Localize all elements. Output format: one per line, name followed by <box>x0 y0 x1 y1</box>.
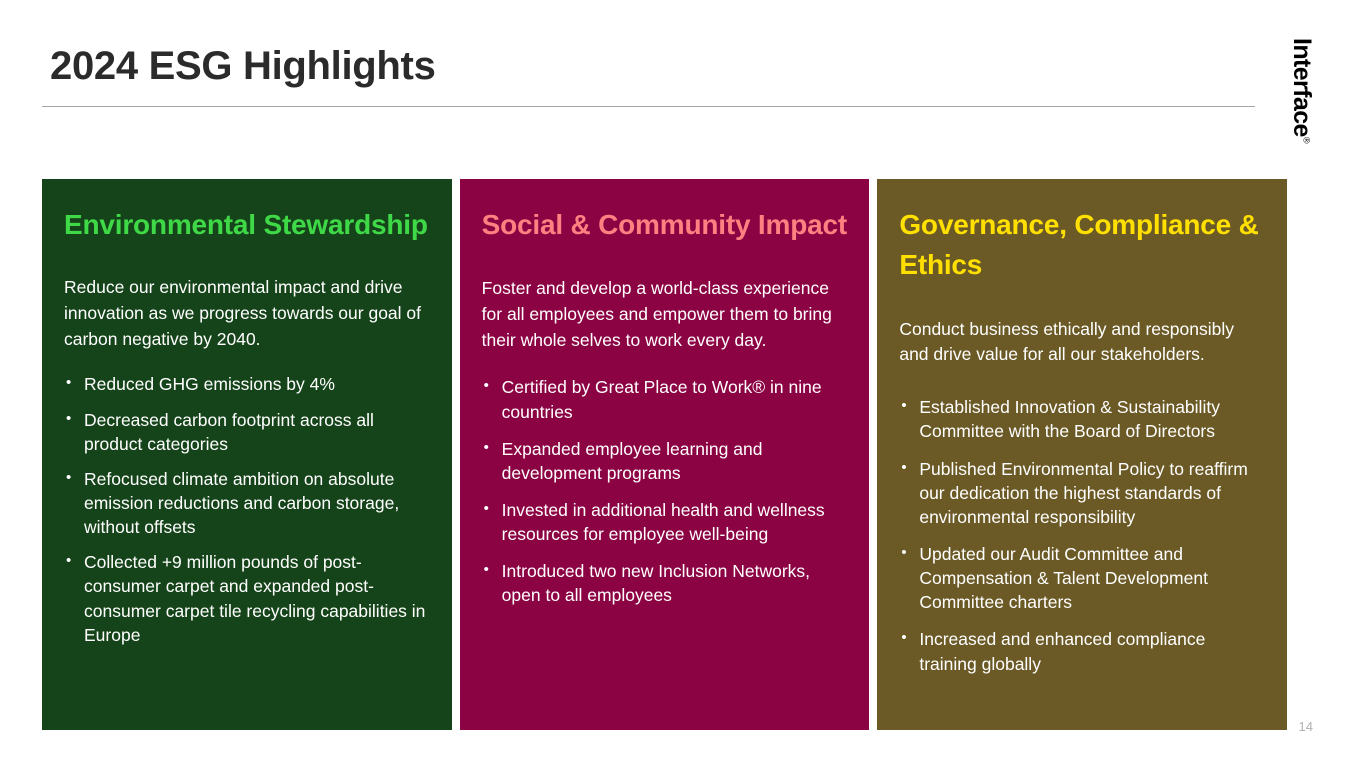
panel-bullet-list: Established Innovation & Sustainability … <box>899 395 1265 675</box>
logo-wordmark: Interface® <box>1287 38 1316 143</box>
panel-heading: Environmental Stewardship <box>64 205 430 245</box>
registered-trademark-icon: ® <box>1301 137 1311 143</box>
list-item: Established Innovation & Sustainability … <box>899 395 1265 443</box>
list-item: Collected +9 million pounds of post-cons… <box>64 550 430 647</box>
list-item: Introduced two new Inclusion Networks, o… <box>482 559 848 607</box>
panel-heading: Social & Community Impact <box>482 205 848 245</box>
list-item: Invested in additional health and wellne… <box>482 498 848 546</box>
panel-intro-text: Conduct business ethically and responsib… <box>899 317 1265 369</box>
logo-wordmark-text: Interface <box>1288 38 1316 137</box>
panel-heading: Governance, Compliance & Ethics <box>899 205 1265 285</box>
panel-bullet-list: Reduced GHG emissions by 4% Decreased ca… <box>64 372 430 646</box>
panel-bullet-list: Certified by Great Place to Work® in nin… <box>482 375 848 607</box>
page-number: 14 <box>1299 719 1313 734</box>
list-item: Expanded employee learning and developme… <box>482 437 848 485</box>
panel-environmental-stewardship: Environmental Stewardship Reduce our env… <box>42 179 452 730</box>
list-item: Increased and enhanced compliance traini… <box>899 627 1265 675</box>
list-item: Reduced GHG emissions by 4% <box>64 372 430 396</box>
panel-social-community-impact: Social & Community Impact Foster and dev… <box>460 179 870 730</box>
title-divider <box>42 106 1255 107</box>
highlight-panels: Environmental Stewardship Reduce our env… <box>42 179 1287 730</box>
list-item: Certified by Great Place to Work® in nin… <box>482 375 848 423</box>
list-item: Published Environmental Policy to reaffi… <box>899 457 1265 529</box>
list-item: Decreased carbon footprint across all pr… <box>64 408 430 456</box>
page-title: 2024 ESG Highlights <box>50 44 436 88</box>
panel-governance-compliance-ethics: Governance, Compliance & Ethics Conduct … <box>877 179 1287 730</box>
list-item: Refocused climate ambition on absolute e… <box>64 467 430 539</box>
slide-canvas: 2024 ESG Highlights Interface® Environme… <box>0 0 1365 768</box>
panel-intro-text: Foster and develop a world-class experie… <box>482 276 848 354</box>
panel-intro-text: Reduce our environmental impact and driv… <box>64 275 430 353</box>
interface-logo: Interface® <box>1290 38 1324 168</box>
list-item: Updated our Audit Committee and Compensa… <box>899 542 1265 614</box>
